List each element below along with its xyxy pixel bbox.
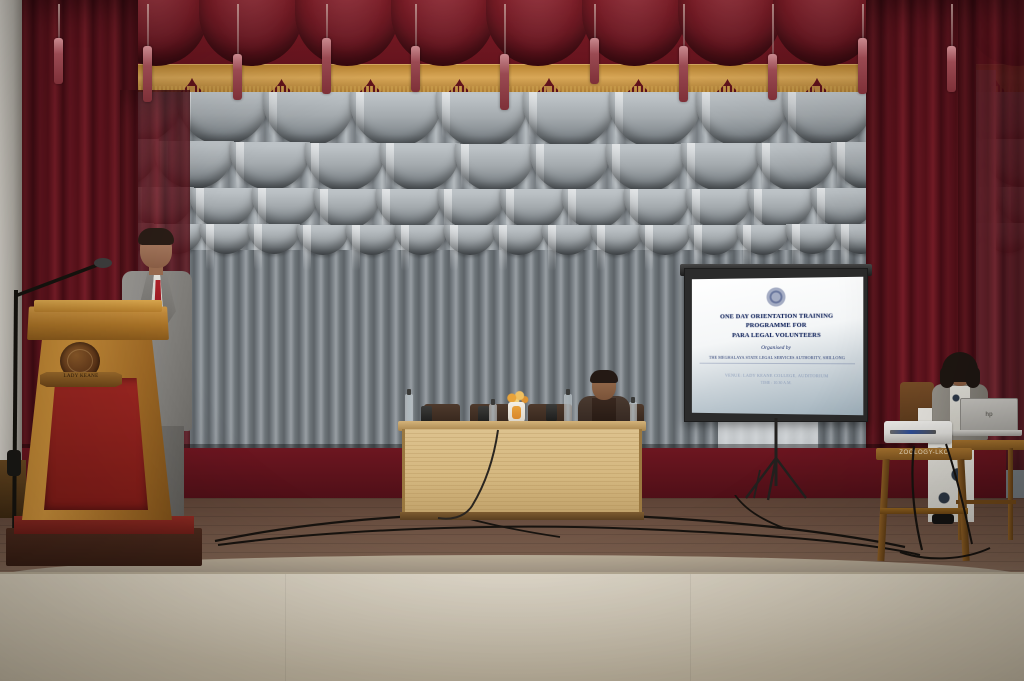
silver-swag	[639, 225, 691, 255]
gold-fringe	[546, 86, 642, 92]
valance-tassel	[679, 46, 688, 102]
podium-ribbon: LADY KEANE	[40, 372, 122, 387]
tassel-cord	[147, 4, 149, 48]
silver-swag	[230, 142, 310, 190]
silver-swag	[493, 225, 545, 255]
valance-tassel	[947, 46, 956, 92]
silver-swag	[177, 89, 269, 145]
silver-swag	[248, 224, 300, 254]
silver-swag	[688, 225, 740, 255]
silver-swag	[681, 143, 761, 191]
operator-hair-side-right	[966, 366, 980, 388]
slide-time: TIME : 10.30 A.M.	[700, 379, 855, 385]
tassel-cord	[326, 4, 328, 40]
tassel-cord	[683, 4, 685, 48]
valance-swag	[391, 0, 495, 66]
slide-authority: THE MEGHALAYA STATE LEGAL SERVICES AUTHO…	[700, 355, 855, 364]
tassel-cord	[772, 4, 774, 56]
screen-tripod-stand	[730, 418, 830, 502]
laptop-keyboard-base	[952, 430, 1022, 436]
slide-organised-by: Organised by	[700, 345, 855, 351]
water-bottle-1	[405, 394, 413, 424]
silver-swag	[444, 225, 496, 255]
stage-apron	[0, 572, 1024, 681]
equipment-cables	[880, 440, 1024, 570]
auditorium-stage-photo: LADY KEANE ONE DAY ORIENTATION TRAINING …	[0, 0, 1024, 681]
slide-seal-icon	[763, 286, 789, 308]
tassel-cord	[237, 4, 239, 56]
silver-swag	[530, 144, 610, 192]
panelist-hair	[590, 370, 618, 383]
tassel-cord	[594, 4, 596, 40]
vase-orange-accent	[512, 406, 521, 419]
silver-swag	[542, 225, 594, 255]
valance-tassel	[411, 46, 420, 92]
valance-tassel	[500, 54, 509, 110]
silver-swag	[346, 225, 398, 255]
tassel-cord	[862, 4, 864, 40]
silver-swag	[200, 224, 252, 254]
valance-tassel	[54, 38, 63, 84]
silver-swag	[305, 143, 385, 191]
slide-venue: VENUE: LADY KEANE COLLEGE, AUDITORIUM	[700, 372, 855, 378]
valance-tassel	[590, 38, 599, 84]
silver-swag	[297, 225, 349, 255]
valance-tassel	[322, 38, 331, 94]
valance-tassel	[768, 54, 777, 100]
slide-title-line-1: ONE DAY ORIENTATION TRAINING	[700, 311, 855, 321]
silver-swag	[606, 144, 686, 192]
valance-tassel	[233, 54, 242, 100]
laptop-screen: hp	[960, 398, 1018, 432]
valance-swag	[678, 0, 782, 66]
podium-ledge	[34, 300, 162, 312]
table-cable	[398, 428, 648, 524]
projector-front-strip	[890, 430, 936, 434]
silver-swag	[786, 224, 838, 254]
operator-hair-side-left	[940, 366, 954, 388]
valance-swag	[295, 0, 399, 66]
valance-tassel	[143, 46, 152, 102]
table-microphone-3	[546, 404, 557, 421]
valance-tassel	[858, 38, 867, 94]
presentation-slide: ONE DAY ORIENTATION TRAINING PROGRAMME F…	[692, 277, 863, 416]
silver-swag	[395, 225, 447, 255]
projection-screen-surface: ONE DAY ORIENTATION TRAINING PROGRAMME F…	[692, 277, 863, 416]
silver-swag	[756, 143, 836, 191]
silver-swag	[737, 225, 789, 255]
silver-swag	[591, 225, 643, 255]
hp-logo-icon: hp	[985, 412, 992, 418]
valance-swag	[199, 0, 303, 66]
slide-title-line-3: PARA LEGAL VOLUNTEERS	[700, 330, 855, 340]
podium-ribbon-text: LADY KEANE	[40, 374, 122, 379]
tassel-cord	[504, 4, 506, 56]
tassel-cord	[58, 4, 60, 40]
slide-title-line-2: PROGRAMME FOR	[700, 321, 855, 331]
water-bottle-2	[564, 394, 572, 424]
silver-swag	[380, 143, 460, 191]
seated-panelist	[578, 372, 630, 424]
silver-swag	[455, 144, 535, 192]
tassel-cord	[415, 4, 417, 48]
podium-red-panel	[44, 378, 148, 510]
speaker-hair	[138, 228, 174, 245]
tassel-cord	[951, 4, 953, 48]
